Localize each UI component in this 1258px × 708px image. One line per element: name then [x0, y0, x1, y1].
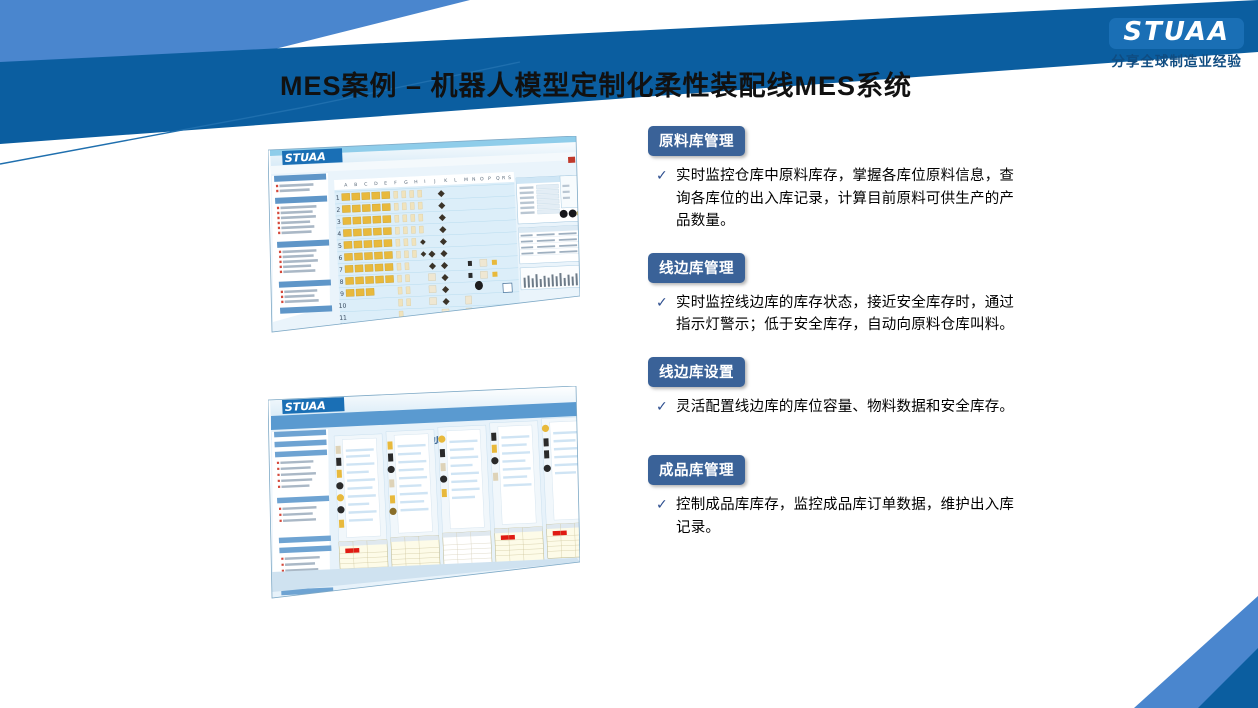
- svg-text:C: C: [364, 181, 367, 187]
- slide-title: MES案例 – 机器人模型定制化柔性装配线MES系统: [280, 64, 912, 103]
- svg-text:4: 4: [337, 231, 341, 238]
- screenshot-warehouse-overview: STUAA: [268, 136, 580, 336]
- svg-text:STUAA: STUAA: [285, 150, 326, 165]
- svg-text:M: M: [464, 177, 468, 183]
- svg-text:O: O: [480, 176, 484, 182]
- feature-badge: 原料库管理: [648, 126, 745, 156]
- svg-text:11: 11: [339, 315, 347, 322]
- svg-text:2: 2: [336, 207, 340, 214]
- check-icon: ✓: [656, 494, 676, 539]
- check-icon: ✓: [656, 396, 676, 419]
- svg-text:8: 8: [339, 279, 343, 286]
- background-decoration: [0, 0, 1258, 708]
- feature-badge: 成品库管理: [648, 455, 745, 485]
- check-icon: ✓: [656, 165, 676, 233]
- deco-band-light-bottom: [1134, 596, 1258, 708]
- svg-text:STUAA: STUAA: [285, 399, 326, 414]
- svg-text:6: 6: [338, 255, 342, 262]
- brand-logo: STUAA 分享全球制造业经验: [1109, 18, 1244, 70]
- svg-text:S: S: [508, 175, 511, 181]
- svg-text:Q: Q: [496, 175, 500, 181]
- svg-text:5: 5: [338, 243, 342, 250]
- feature-body: ✓ 灵活配置线边库的库位容量、物料数据和安全库存。: [656, 396, 1020, 419]
- svg-text:J: J: [433, 178, 436, 184]
- feature-item: 原料库管理 ✓ 实时监控仓库中原料库存，掌握各库位原料信息，查询各库位的出入库记…: [648, 126, 1020, 233]
- svg-text:3: 3: [337, 219, 341, 226]
- svg-text:7: 7: [339, 267, 343, 274]
- screenshot-line-store-setup: STUAA: [268, 386, 580, 601]
- feature-text: 控制成品库库存，监控成品库订单数据，维护出入库记录。: [676, 494, 1016, 539]
- feature-text: 灵活配置线边库的库位容量、物料数据和安全库存。: [676, 396, 1016, 419]
- check-icon: ✓: [656, 292, 676, 337]
- svg-text:B: B: [354, 182, 357, 188]
- svg-text:10: 10: [339, 303, 347, 310]
- svg-text:H: H: [414, 179, 418, 185]
- svg-text:N: N: [472, 177, 476, 183]
- feature-body: ✓ 控制成品库库存，监控成品库订单数据，维护出入库记录。: [656, 494, 1020, 539]
- feature-badge: 线边库设置: [648, 357, 745, 387]
- svg-text:I: I: [424, 179, 426, 185]
- feature-body: ✓ 实时监控线边库的库存状态，接近安全库存时，通过指示灯警示；低于安全库存，自动…: [656, 292, 1020, 337]
- svg-text:P: P: [488, 176, 491, 182]
- logo-wordmark: STUAA: [1109, 18, 1244, 49]
- feature-item: 线边库设置 ✓ 灵活配置线边库的库位容量、物料数据和安全库存。: [648, 357, 1020, 419]
- feature-text: 实时监控仓库中原料库存，掌握各库位原料信息，查询各库位的出入库记录，计算目前原料…: [676, 165, 1016, 233]
- deco-line-lower: [0, 108, 300, 164]
- svg-text:1: 1: [336, 195, 340, 202]
- feature-item: 成品库管理 ✓ 控制成品库库存，监控成品库订单数据，维护出入库记录。: [648, 455, 1020, 539]
- feature-badge: 线边库管理: [648, 253, 745, 283]
- feature-body: ✓ 实时监控仓库中原料库存，掌握各库位原料信息，查询各库位的出入库记录，计算目前…: [656, 165, 1020, 233]
- feature-item: 线边库管理 ✓ 实时监控线边库的库存状态，接近安全库存时，通过指示灯警示；低于安…: [648, 253, 1020, 337]
- feature-list: 原料库管理 ✓ 实时监控仓库中原料库存，掌握各库位原料信息，查询各库位的出入库记…: [648, 126, 1020, 543]
- svg-text:9: 9: [340, 291, 344, 298]
- logo-tagline: 分享全球制造业经验: [1109, 50, 1244, 70]
- feature-text: 实时监控线边库的库存状态，接近安全库存时，通过指示灯警示；低于安全库存，自动向原…: [676, 292, 1016, 337]
- svg-text:E: E: [384, 181, 387, 187]
- deco-band-dark-bottom: [1198, 648, 1258, 708]
